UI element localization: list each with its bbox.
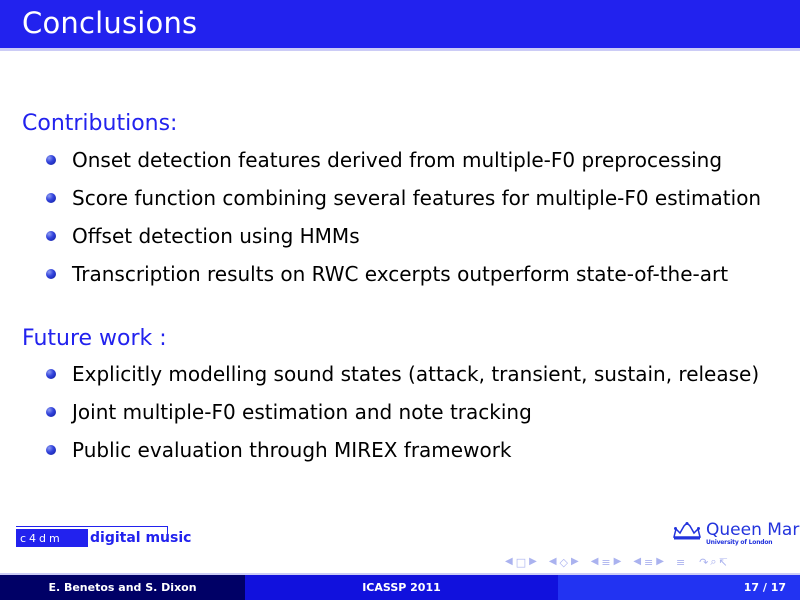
subsection-icon[interactable]: ≡	[601, 557, 610, 568]
nav-group-section[interactable]: ◀ ≡ ▶	[633, 557, 664, 568]
frame-icon[interactable]: ◇	[560, 557, 568, 568]
footer-event: ICASSP 2011	[245, 575, 558, 600]
list-item-label: Explicitly modelling sound states (attac…	[72, 362, 759, 386]
bullet-ball-icon	[46, 231, 56, 241]
list-item-label: Transcription results on RWC excerpts ou…	[72, 262, 728, 286]
queen-mary-logo: Queen Mary University of London	[672, 519, 790, 551]
nav-group-slide[interactable]: ◀ □ ▶	[505, 557, 537, 568]
c4dm-logo-word: digital music	[90, 530, 191, 546]
section-heading-future-work: Future work :	[22, 326, 167, 351]
back-icon[interactable]: ↷	[699, 556, 710, 569]
list-item: Offset detection using HMMs	[44, 224, 761, 248]
footer-author: E. Benetos and S. Dixon	[0, 575, 245, 600]
list-item: Score function combining several feature…	[44, 186, 761, 210]
prev-section-arrow-icon[interactable]: ◀	[633, 557, 641, 567]
slide-content: Contributions: Onset detection features …	[0, 54, 800, 494]
bullet-ball-icon	[46, 155, 56, 165]
next-frame-arrow-icon[interactable]: ▶	[571, 557, 579, 567]
list-item-label: Offset detection using HMMs	[72, 224, 360, 248]
prev-subsection-arrow-icon[interactable]: ◀	[591, 557, 599, 567]
contributions-list: Onset detection features derived from mu…	[44, 148, 761, 286]
bullet-ball-icon	[46, 369, 56, 379]
nav-group-frame[interactable]: ◀ ◇ ▶	[549, 557, 579, 568]
slide-icon[interactable]: □	[516, 557, 526, 568]
list-item-label: Public evaluation through MIREX framewor…	[72, 438, 512, 462]
slide-title-bar: Conclusions	[0, 0, 800, 48]
future-work-list: Explicitly modelling sound states (attac…	[44, 362, 759, 462]
prev-slide-arrow-icon[interactable]: ◀	[505, 557, 513, 567]
list-item: Joint multiple-F0 estimation and note tr…	[44, 400, 759, 424]
list-item-label: Onset detection features derived from mu…	[72, 148, 722, 172]
list-item: Onset detection features derived from mu…	[44, 148, 761, 172]
next-subsection-arrow-icon[interactable]: ▶	[614, 557, 622, 567]
bullet-ball-icon	[46, 407, 56, 417]
list-item: Transcription results on RWC excerpts ou…	[44, 262, 761, 286]
search-icon[interactable]: ⌕	[710, 555, 718, 569]
crown-icon	[672, 522, 702, 542]
title-underline-rule	[0, 48, 800, 51]
list-item: Explicitly modelling sound states (attac…	[44, 362, 759, 386]
queen-mary-name: Queen Mary	[706, 520, 800, 540]
bullet-ball-icon	[46, 445, 56, 455]
presentation-icon[interactable]: ≡	[676, 557, 685, 568]
list-item-label: Joint multiple-F0 estimation and note tr…	[72, 400, 532, 424]
section-heading-contributions: Contributions:	[22, 111, 177, 136]
c4dm-logo-mark-text: c4dm	[20, 533, 84, 544]
slide-footer: E. Benetos and S. Dixon ICASSP 2011 17 /…	[0, 575, 800, 600]
nav-group-subsection[interactable]: ◀ ≡ ▶	[591, 557, 622, 568]
c4dm-logo-rule	[16, 526, 168, 527]
page-title: Conclusions	[22, 6, 197, 40]
footer-page-number: 17 / 17	[558, 575, 800, 600]
list-item-label: Score function combining several feature…	[72, 186, 761, 210]
c4dm-logo: c4dm digital music	[16, 524, 168, 550]
section-icon[interactable]: ≡	[644, 557, 653, 568]
next-slide-arrow-icon[interactable]: ▶	[529, 557, 537, 567]
beamer-navigation-symbols[interactable]: ◀ □ ▶ ◀ ◇ ▶ ◀ ≡ ▶ ◀ ≡ ▶ ≡ ↷ ⌕ ↸	[505, 554, 730, 570]
bullet-ball-icon	[46, 193, 56, 203]
prev-frame-arrow-icon[interactable]: ◀	[549, 557, 557, 567]
list-item: Public evaluation through MIREX framewor…	[44, 438, 759, 462]
bullet-ball-icon	[46, 269, 56, 279]
forward-icon[interactable]: ↸	[719, 556, 730, 569]
next-section-arrow-icon[interactable]: ▶	[656, 557, 664, 567]
queen-mary-subtitle: University of London	[706, 539, 772, 546]
